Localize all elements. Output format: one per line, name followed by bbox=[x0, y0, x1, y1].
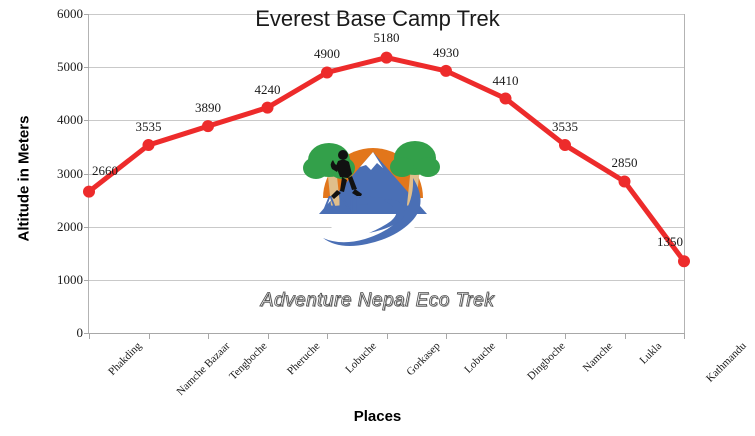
x-tick-mark-4 bbox=[327, 333, 328, 339]
x-category-label-10: Kathmandu bbox=[704, 340, 749, 385]
series-markers bbox=[83, 52, 690, 268]
series-polyline bbox=[89, 58, 684, 262]
y-tick-label-2000: 2000 bbox=[57, 219, 83, 235]
x-tick-mark-2 bbox=[208, 333, 209, 339]
data-point-4[interactable] bbox=[321, 66, 333, 78]
line-series bbox=[89, 14, 684, 333]
y-axis-title: Altitude in Meters bbox=[16, 79, 33, 279]
data-point-9[interactable] bbox=[619, 175, 631, 187]
x-tick-mark-0 bbox=[89, 333, 90, 339]
x-category-label-7: Dingboche bbox=[525, 340, 568, 383]
y-tick-label-1000: 1000 bbox=[57, 272, 83, 288]
data-label-2: 3890 bbox=[195, 100, 221, 116]
x-tick-mark-6 bbox=[446, 333, 447, 339]
data-label-8: 3535 bbox=[552, 119, 578, 135]
y-tick-label-5000: 5000 bbox=[57, 59, 83, 75]
x-category-label-6: Lobuche bbox=[462, 340, 498, 376]
x-tick-mark-9 bbox=[625, 333, 626, 339]
x-category-label-2: Tengboche bbox=[227, 340, 270, 383]
x-tick-mark-5 bbox=[387, 333, 388, 339]
chart-container: Everest Base Camp Trek Altitude in Meter… bbox=[0, 0, 755, 436]
x-tick-mark-10 bbox=[684, 333, 685, 339]
data-point-7[interactable] bbox=[500, 93, 512, 105]
x-category-label-4: Lobuche bbox=[343, 340, 379, 376]
data-label-6: 4930 bbox=[433, 45, 459, 61]
data-label-3: 4240 bbox=[255, 82, 281, 98]
x-category-label-3: Pheruche bbox=[284, 340, 321, 377]
x-category-label-5: Gorkasep bbox=[404, 340, 442, 378]
x-category-label-0: Phakding bbox=[106, 340, 144, 378]
x-category-label-8: Namche bbox=[581, 340, 615, 374]
x-tick-mark-8 bbox=[565, 333, 566, 339]
data-point-10[interactable] bbox=[678, 255, 690, 267]
data-point-0[interactable] bbox=[83, 186, 95, 198]
chart-title: Everest Base Camp Trek bbox=[0, 6, 755, 32]
data-point-5[interactable] bbox=[381, 52, 393, 64]
x-tick-mark-7 bbox=[506, 333, 507, 339]
y-tick-label-4000: 4000 bbox=[57, 112, 83, 128]
data-label-0: 2660 bbox=[92, 163, 118, 179]
data-label-10: 1350 bbox=[657, 234, 683, 250]
x-category-label-9: Lukla bbox=[637, 340, 664, 367]
data-point-3[interactable] bbox=[262, 102, 274, 114]
x-category-label-1: Namche Bazaar bbox=[174, 340, 232, 398]
x-tick-mark-3 bbox=[268, 333, 269, 339]
data-point-1[interactable] bbox=[143, 139, 155, 151]
data-point-8[interactable] bbox=[559, 139, 571, 151]
x-tick-mark-1 bbox=[149, 333, 150, 339]
data-label-4: 4900 bbox=[314, 46, 340, 62]
x-axis-category-labels: PhakdingNamche BazaarTengbochePherucheLo… bbox=[88, 340, 683, 410]
plot-area: 0100020003000400050006000 26603535389042… bbox=[88, 14, 685, 333]
y-tick-label-0: 0 bbox=[77, 325, 84, 341]
data-point-2[interactable] bbox=[202, 120, 214, 132]
x-axis-title: Places bbox=[0, 408, 755, 425]
data-label-7: 4410 bbox=[493, 73, 519, 89]
y-tick-label-3000: 3000 bbox=[57, 166, 83, 182]
data-label-1: 3535 bbox=[136, 119, 162, 135]
data-label-9: 2850 bbox=[612, 155, 638, 171]
data-point-6[interactable] bbox=[440, 65, 452, 77]
